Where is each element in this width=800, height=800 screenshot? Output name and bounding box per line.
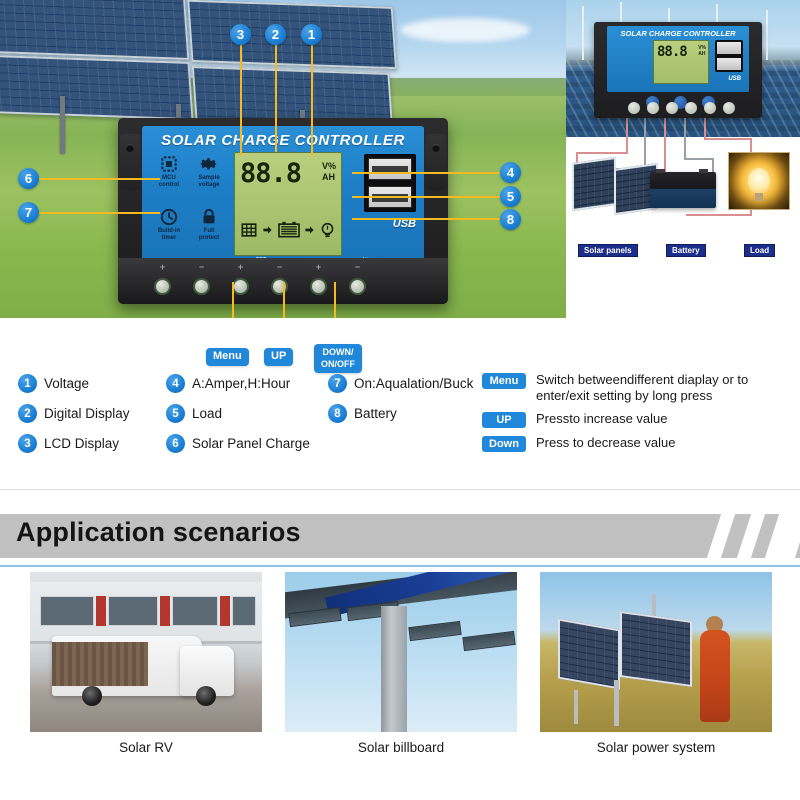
- thumbnail-terminal: [723, 102, 735, 114]
- gear-icon: [199, 154, 219, 174]
- section-divider: [0, 489, 800, 490]
- terminal-mark: +: [232, 262, 249, 272]
- numbered-legend-grid: 1 Voltage 4 A:Amper,H:Hour 7 On:Aqualati…: [18, 374, 478, 453]
- solar-charge-controller-device: SOLAR CHARGE CONTROLLER MCU control Samp…: [118, 118, 448, 304]
- thumbnail-usb-ports: [715, 40, 743, 72]
- legend-bullet: 6: [166, 434, 185, 453]
- legend-item: 2 Digital Display: [18, 404, 166, 423]
- legend-bullet: 1: [18, 374, 37, 393]
- wire-solar-negative: [644, 118, 646, 170]
- thumbnail-lcd-units: V% AH: [698, 45, 706, 57]
- band-stripe: [765, 514, 800, 558]
- legend-item: 3 LCD Display: [18, 434, 166, 453]
- scenario-caption-solar-rv: Solar RV: [30, 740, 262, 755]
- thumbnail-lcd: 88.8 V% AH: [653, 40, 709, 84]
- feature-label: Full protect: [190, 228, 228, 241]
- lcd-flow-icons: [239, 212, 337, 248]
- rv-wheel: [196, 686, 216, 706]
- wire-solar-positive: [576, 152, 628, 154]
- terminal-screw: [193, 278, 210, 295]
- usb-ports: [364, 154, 416, 212]
- leader-line-down: [334, 282, 336, 318]
- callout-4: 4: [500, 162, 521, 183]
- key-desc-menu: Switch betweendifferent diaplay or to en…: [536, 372, 792, 404]
- legend-text: Voltage: [44, 376, 89, 391]
- wire-battery-negative: [684, 118, 686, 158]
- clock-icon: [159, 207, 179, 227]
- legend-bullet: 7: [328, 374, 347, 393]
- application-scenario-gallery: Solar RV Solar billboard Solar power sys…: [0, 572, 800, 782]
- callout-3: 3: [230, 24, 251, 45]
- feature-full-protect: Full protect: [190, 205, 228, 256]
- application-underline: [0, 565, 800, 567]
- wire-load-positive: [686, 214, 752, 216]
- leader-line-1: [311, 44, 313, 156]
- wind-turbine: [766, 10, 768, 60]
- wire-load-positive: [704, 138, 752, 140]
- leader-line-6: [38, 178, 160, 180]
- controller-faceplate: SOLAR CHARGE CONTROLLER MCU control Samp…: [142, 126, 424, 262]
- callout-6: 6: [18, 168, 39, 189]
- mounting-ear-right: [426, 134, 446, 190]
- field-solar-panel: [620, 611, 692, 687]
- billboard-column: [381, 606, 407, 732]
- callout-key-up: UP: [264, 348, 293, 366]
- battery-graphic: [650, 172, 716, 208]
- person-figure: [700, 630, 730, 722]
- terminal-screw: [232, 278, 249, 295]
- field-photo: [540, 572, 772, 732]
- legend-item: 4 A:Amper,H:Hour: [166, 374, 328, 393]
- lcd-unit-bottom: AH: [322, 172, 336, 183]
- thumbnail-lcd-digits: 88.8: [657, 44, 687, 60]
- legend-item: 1 Voltage: [18, 374, 166, 393]
- thumbnail-unit-bottom: AH: [698, 51, 706, 57]
- legend-item: 6 Solar Panel Charge: [166, 434, 328, 453]
- thumbnail-terminal: [666, 102, 678, 114]
- callout-1: 1: [301, 24, 322, 45]
- band-stripe: [737, 514, 765, 558]
- callout-key-down: DOWN/ ON/OFF: [314, 344, 362, 373]
- lcd-display: 88.8 V% AH: [234, 152, 342, 256]
- scenario-image-solar-rv: [30, 572, 262, 732]
- key-row-up: UP Pressto increase value: [482, 411, 792, 428]
- legend-item: 5 Load: [166, 404, 328, 423]
- legend-text: On:Aqualation/Buck: [354, 376, 473, 391]
- key-cap-down: Down: [482, 436, 526, 452]
- wire-solar-positive: [626, 118, 628, 154]
- key-cap-menu: Menu: [482, 373, 526, 389]
- leader-line-8: [352, 218, 500, 220]
- key-row-down: Down Press to decrease value: [482, 435, 792, 452]
- feature-sample-voltage: Sample voltage: [190, 152, 228, 203]
- button-callout-labels: Menu UP DOWN/ ON/OFF: [190, 344, 390, 374]
- thumbnail-terminal: [628, 102, 640, 114]
- band-stripe: [707, 514, 735, 558]
- light-bulb-icon: [318, 220, 337, 240]
- legend-text: LCD Display: [44, 436, 119, 451]
- thumbnail-brand-title: SOLAR CHARGE CONTROLLER: [607, 29, 749, 38]
- cloud: [400, 18, 530, 42]
- terminal-screw: [349, 278, 366, 295]
- callout-5: 5: [500, 186, 521, 207]
- rv-side-panel: [52, 642, 148, 686]
- field-solar-panel: [558, 619, 620, 690]
- rv-building: [30, 582, 262, 644]
- lcd-digits: 88.8: [240, 159, 301, 189]
- panel-mount-post: [574, 690, 578, 724]
- solar-panel-graphic: [572, 157, 616, 211]
- chip-icon: [159, 154, 179, 174]
- product-brand-title: SOLAR CHARGE CONTROLLER: [142, 132, 424, 149]
- callout-7: 7: [18, 202, 39, 223]
- legend-text: Battery: [354, 406, 397, 421]
- arrow-right-icon: [304, 224, 315, 236]
- diagram-label-battery: Battery: [666, 244, 706, 257]
- legend-section: Menu UP DOWN/ ON/OFF 1 Voltage 4 A:Amper…: [0, 318, 800, 490]
- wire-battery-negative: [684, 158, 714, 160]
- legend-item-empty: [328, 434, 478, 453]
- lock-icon: [199, 207, 219, 227]
- leader-line-menu: [232, 282, 234, 318]
- scenario-image-solar-billboard: [285, 572, 517, 732]
- terminal-screw: [310, 278, 327, 295]
- wind-turbine: [582, 6, 584, 60]
- legend-bullet: 5: [166, 404, 185, 423]
- lcd-units: V% AH: [322, 161, 336, 183]
- feature-label: Build-in timer: [150, 228, 188, 241]
- light-bulb-icon: [748, 168, 770, 194]
- leader-line-4: [352, 172, 500, 174]
- panel-mount-post: [614, 680, 619, 726]
- terminal-mark: +: [154, 262, 171, 272]
- solar-panel-icon: [239, 220, 259, 240]
- key-desc-up: Pressto increase value: [536, 411, 668, 427]
- mounting-ear-left: [120, 134, 140, 190]
- scenario-caption-solar-power-system: Solar power system: [540, 740, 772, 755]
- callout-8: 8: [500, 209, 521, 230]
- terminal-mark: −: [271, 262, 288, 272]
- leader-line-up: [283, 282, 285, 318]
- lcd-unit-top: V%: [322, 161, 336, 172]
- wiring-diagram-panel: SOLAR CHARGE CONTROLLER 88.8 V% AH USB: [566, 0, 800, 318]
- terminal-screw: [271, 278, 288, 295]
- leader-line-2: [275, 44, 277, 152]
- feature-label: MCU control: [150, 175, 188, 188]
- legend-text: Load: [192, 406, 222, 421]
- thumbnail-usb-label: USB: [728, 76, 741, 82]
- diagram-label-solar-panels: Solar panels: [578, 244, 638, 257]
- battery-icon: [276, 220, 302, 240]
- scenario-image-solar-power-system: [540, 572, 772, 732]
- rv-wheel: [82, 686, 102, 706]
- legend-text: Digital Display: [44, 406, 130, 421]
- array-leg: [60, 96, 65, 154]
- legend-item: 7 On:Aqualation/Buck: [328, 374, 478, 393]
- legend-bullet: 4: [166, 374, 185, 393]
- rv-photo: [30, 572, 262, 732]
- diagram-label-load: Load: [744, 244, 775, 257]
- terminal-mark: +: [310, 262, 327, 272]
- key-cap-up: UP: [482, 412, 526, 428]
- leader-line-5: [352, 196, 500, 198]
- leader-line-7: [38, 212, 160, 214]
- thumbnail-terminal: [685, 102, 697, 114]
- wire-load-positive: [704, 118, 706, 140]
- callout-2: 2: [265, 24, 286, 45]
- terminal-screw: [154, 278, 171, 295]
- key-desc-down: Press to decrease value: [536, 435, 675, 451]
- billboard-photo: [285, 572, 517, 732]
- usb-port-top: [368, 158, 412, 180]
- application-heading: Application scenarios: [16, 517, 301, 548]
- key-function-list: Menu Switch betweendifferent diaplay or …: [482, 372, 792, 459]
- thumbnail-terminal: [704, 102, 716, 114]
- legend-text: Solar Panel Charge: [192, 436, 310, 451]
- feature-icon-grid: MCU control Sample voltage Build-in time…: [150, 152, 228, 256]
- scenario-caption-solar-billboard: Solar billboard: [285, 740, 517, 755]
- legend-text: A:Amper,H:Hour: [192, 376, 290, 391]
- load-lamp-graphic: [728, 152, 790, 210]
- hero-section: SOLAR CHARGE CONTROLLER MCU control Samp…: [0, 0, 800, 318]
- arrow-right-icon: [262, 224, 273, 236]
- feature-label: Sample voltage: [190, 175, 228, 188]
- legend-bullet: 8: [328, 404, 347, 423]
- controller-thumbnail-faceplate: SOLAR CHARGE CONTROLLER 88.8 V% AH USB: [607, 26, 749, 92]
- callout-key-menu: Menu: [206, 348, 249, 366]
- leader-line-3: [240, 44, 242, 156]
- controller-thumbnail: SOLAR CHARGE CONTROLLER 88.8 V% AH USB: [594, 22, 762, 118]
- legend-bullet: 3: [18, 434, 37, 453]
- key-row-menu: Menu Switch betweendifferent diaplay or …: [482, 372, 792, 404]
- legend-item: 8 Battery: [328, 404, 478, 423]
- thumbnail-terminal: [647, 102, 659, 114]
- terminal-mark: −: [349, 262, 366, 272]
- legend-bullet: 2: [18, 404, 37, 423]
- terminal-mark: −: [193, 262, 210, 272]
